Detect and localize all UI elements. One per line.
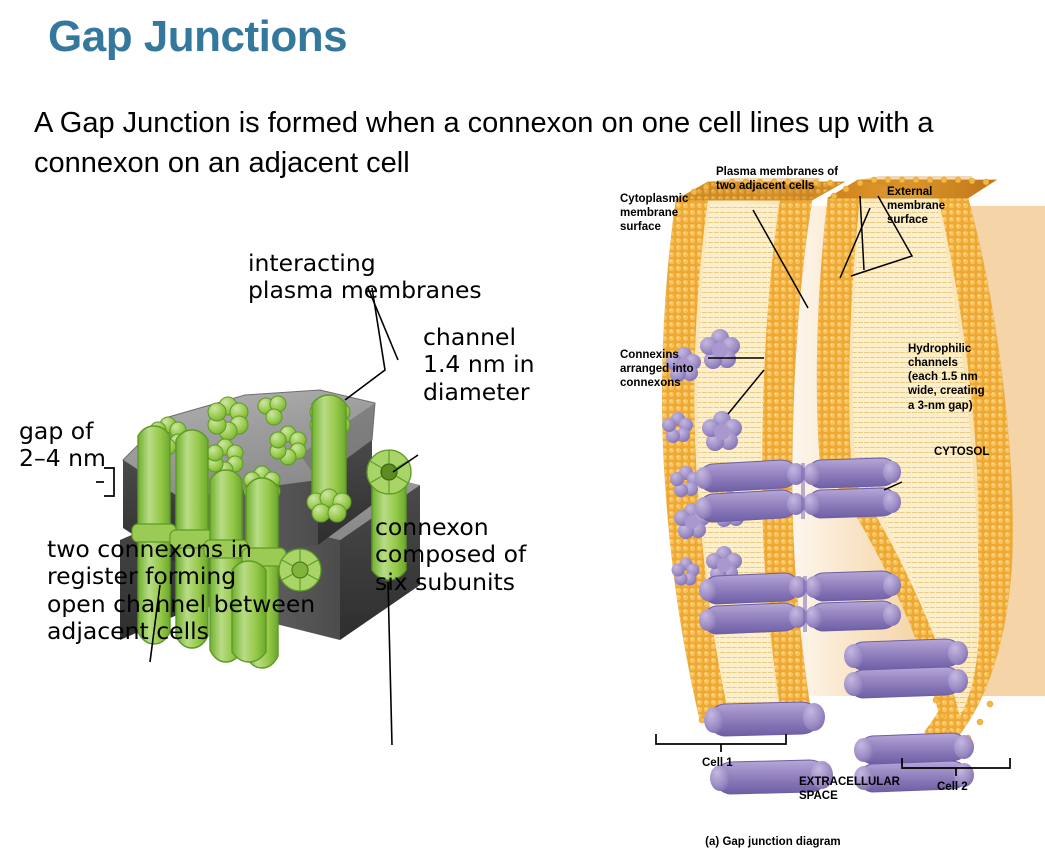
label-two-connexons-in-register: two connexons in register forming open c… bbox=[47, 536, 315, 646]
caption-text: Gap junction diagram bbox=[722, 836, 840, 848]
label-cell-2: Cell 2 bbox=[937, 780, 968, 794]
page-title: Gap Junctions bbox=[48, 12, 347, 62]
label-cell-1: Cell 1 bbox=[702, 756, 733, 770]
label-connexon-six-subunits: connexon composed of six subunits bbox=[375, 514, 526, 596]
label-cytosol: CYTOSOL bbox=[934, 445, 989, 459]
label-plasma-membranes-two-adjacent-cells: Plasma membranes of two adjacent cells bbox=[716, 165, 838, 193]
slide-canvas: Gap Junctions A Gap Junction is formed w… bbox=[0, 0, 1045, 792]
figure-gap-junction-diagram: Cytoplasmic membrane surface Plasma memb… bbox=[612, 160, 1045, 785]
label-channel-diameter: channel 1.4 nm in diameter bbox=[423, 324, 535, 406]
label-external-membrane-surface: External membrane surface bbox=[887, 185, 945, 227]
connexon-cell2-lower-a bbox=[844, 639, 968, 698]
right-diagram-svg bbox=[612, 160, 1045, 785]
label-extracellular-space: EXTRACELLULAR SPACE bbox=[799, 775, 900, 803]
connexon-cell1-lower-a bbox=[704, 702, 825, 736]
label-hydrophilic-channels: Hydrophilic channels (each 1.5 nm wide, … bbox=[908, 342, 985, 413]
caption-label-prefix: (a) bbox=[705, 836, 719, 848]
figure-caption: (a) Gap junction diagram bbox=[686, 821, 841, 863]
label-gap-of-2-4-nm: gap of 2–4 nm bbox=[19, 418, 106, 473]
label-cytoplasmic-membrane-surface: Cytoplasmic membrane surface bbox=[620, 192, 688, 234]
label-connexins-arranged-into-connexons: Connexins arranged into connexons bbox=[620, 348, 693, 390]
label-interacting-plasma-membranes: interacting plasma membranes bbox=[248, 250, 482, 305]
figure-freeze-fracture-gap-junction: interacting plasma membranes channel 1.4… bbox=[0, 240, 560, 670]
